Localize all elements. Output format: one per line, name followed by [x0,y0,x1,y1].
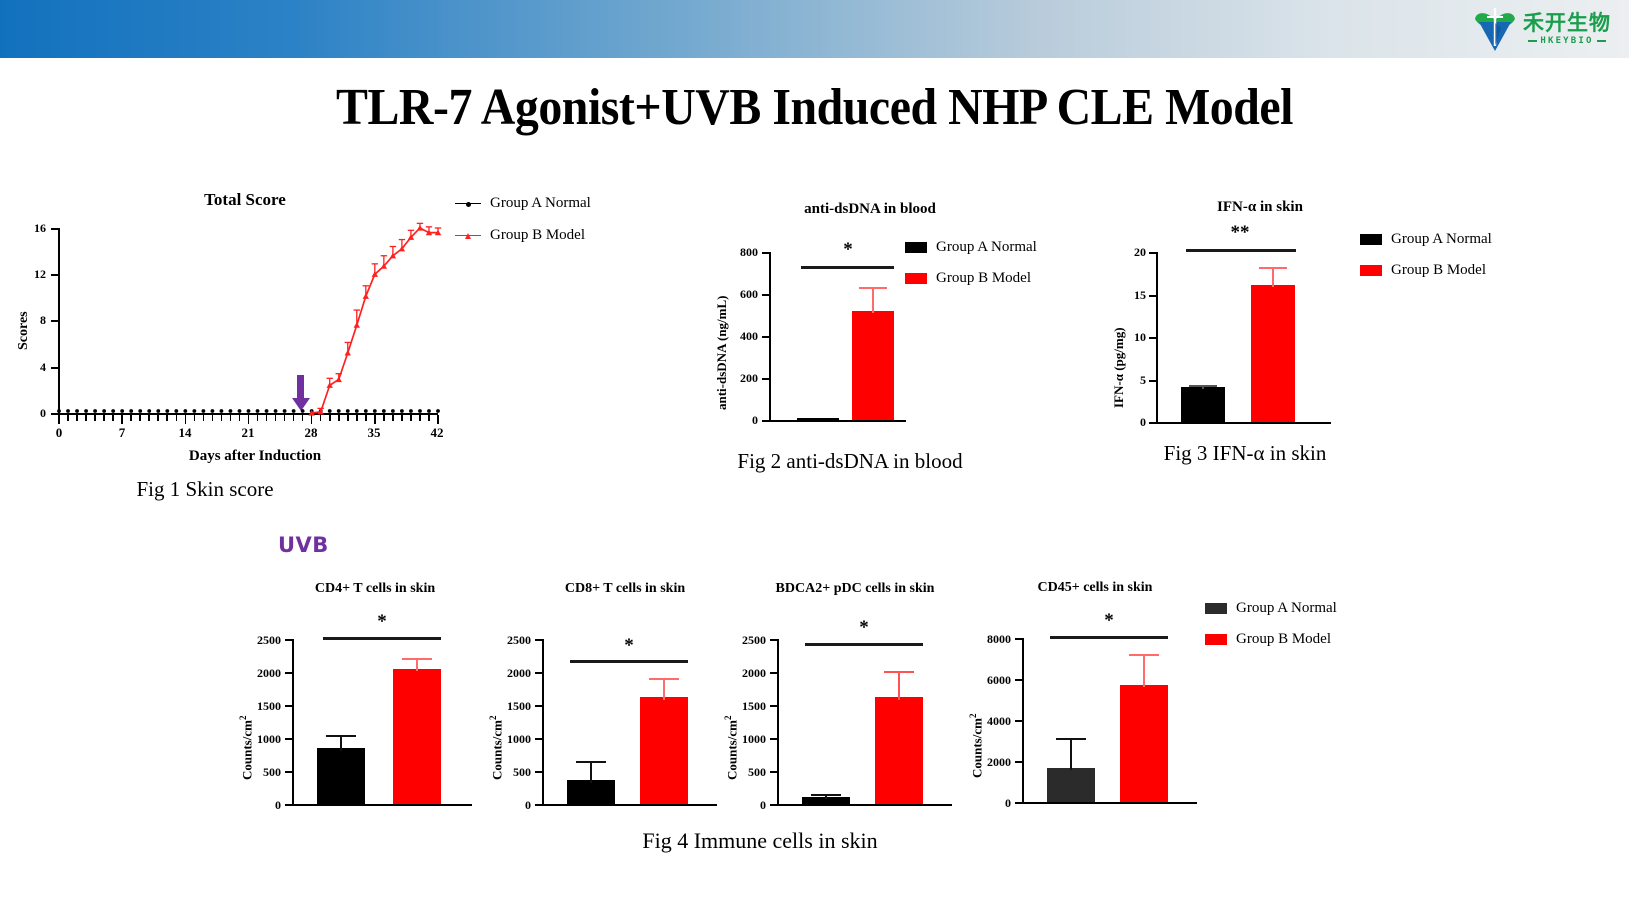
fig3-ytick-20 [1149,252,1156,254]
fig1-xtick-11 [157,415,159,421]
fig2-caption: Fig 2 anti-dsDNA in blood [680,449,1020,474]
fig1-xtick-35 [374,415,376,424]
fig2-title: anti-dsDNA in blood [720,201,1020,218]
fig4a-ytick-label-2000: 2000 [246,666,281,681]
fig4a-ytick-1500 [285,705,292,707]
fig4c-errorbar-a-cap [811,794,841,796]
fig4a-x-axis [292,804,472,806]
fig3-significance-star: ** [1210,222,1270,244]
fig4c-ytick-0 [770,804,777,806]
logo-brand-cn: 禾开生物 [1523,13,1611,34]
fig3-legend: Group A Normal Group B Model [1360,231,1492,279]
fig4c-x-axis [777,804,952,806]
fig2-legend-item-a: Group A Normal [905,239,1037,256]
logo-dash-right [1597,40,1606,42]
fig4b-x-axis [542,804,717,806]
figure-4d-cd45: CD45+ cells in skin 8000 6000 4000 2000 … [960,570,1220,815]
fig2-ytick-label-600: 600 [728,287,758,302]
logo-brand-en: HKEYBIO [1528,37,1605,46]
fig4c-ytick-500 [770,771,777,773]
fig1-xtick-15 [194,415,196,421]
fig1-xtick-17 [212,415,214,421]
fig4b-errorbar-a-cap [576,761,606,763]
fig4a-bar-group-b [393,669,441,804]
fig4b-errorbar-a-stem [590,761,592,783]
swatch-red-icon [905,273,927,284]
fig1-xtick-2 [76,415,78,421]
fig2-legend-label-b: Group B Model [936,270,1031,287]
fig1-xtick-13 [176,415,178,421]
fig4a-bar-group-a [317,748,365,804]
fig4-legend-item-b: Group B Model [1205,631,1337,648]
fig4c-title: BDCA2+ pDC cells in skin [735,581,975,597]
fig2-ytick-label-800: 800 [728,245,758,260]
fig4a-ytick-label-1500: 1500 [246,699,281,714]
fig4c-y-axis [777,639,779,806]
fig1-xtick-20 [239,415,241,421]
fig1-xtick-24 [275,415,277,421]
fig1-xtick-19 [230,415,232,421]
fig2-x-axis [769,420,906,422]
fig3-caption: Fig 3 IFN-α in skin [1100,441,1390,466]
fig1-xtick-label-21: 21 [237,425,259,441]
fig1-ytick-12 [51,274,58,276]
fig1-xtick-1 [67,415,69,421]
fig1-xtick-3 [85,415,87,421]
fig1-xtick-4 [94,415,96,421]
fig1-xtick-36 [383,415,385,421]
fig3-title: IFN-α in skin [1130,199,1390,216]
fig4a-title: CD4+ T cells in skin [265,581,485,597]
uvb-arrow-shaft-icon [297,375,304,400]
fig4-legend: Group A Normal Group B Model [1205,600,1337,648]
fig4b-ytick-label-2000: 2000 [496,666,531,681]
fig1-xtick-27 [302,415,304,421]
fig4d-x-axis [1022,802,1197,804]
fig3-bar-group-b [1251,285,1295,422]
fig3-ytick-label-0: 0 [1120,415,1146,430]
fig4c-significance-line [805,643,923,646]
fig2-ytick-label-0: 0 [728,413,758,428]
swatch-red-icon [1205,634,1227,645]
fig2-ytick-600 [762,294,769,296]
fig2-bar-group-b [852,311,894,420]
fig4d-ytick-6000 [1015,679,1022,681]
fig1-title: Total Score [150,190,340,210]
fig1-xtick-33 [356,415,358,421]
fig4b-ytick-1500 [535,705,542,707]
swatch-red-icon [1360,265,1382,276]
fig4d-ytick-label-0: 0 [976,796,1011,811]
fig1-xtick-25 [284,415,286,421]
fig2-legend-label-a: Group A Normal [936,239,1037,256]
swatch-black-icon [1360,234,1382,245]
fig1-y-axis [58,228,60,415]
fig4a-y-axis-label: Counts/cm2 [238,716,255,780]
fig4d-bar-group-b [1120,685,1168,802]
fig4a-errorbar-b-stem [416,658,418,671]
swatch-dark-gray-icon [1205,603,1227,614]
fig1-xtick-39 [410,415,412,421]
fig4b-ytick-label-1500: 1500 [496,699,531,714]
fig1-xtick-22 [257,415,259,421]
fig1-legend: Group A Normal Group B Model [455,195,591,244]
fig4c-ytick-2000 [770,672,777,674]
fig4b-ytick-2500 [535,639,542,641]
figure-2-anti-dsdna: anti-dsDNA in blood Group A Normal Group… [690,195,1090,485]
fig1-xtick-7 [121,415,123,424]
fig1-xtick-23 [266,415,268,421]
fig2-ytick-800 [762,252,769,254]
fig1-xtick-41 [428,415,430,421]
fig3-y-axis-label: IFN-α (pg/mg) [1111,327,1127,408]
fig1-xtick-26 [293,415,295,421]
fig3-legend-item-b: Group B Model [1360,262,1492,279]
company-logo: 禾开生物 HKEYBIO [1421,4,1611,54]
fig4d-significance-line [1050,636,1168,639]
leaf-diamond-logo-icon [1474,6,1516,52]
logo-dash-left [1528,40,1537,42]
fig1-legend-item-b: Group B Model [455,227,591,244]
fig3-ytick-label-15: 15 [1120,288,1146,303]
header-banner [0,0,1629,58]
fig2-ytick-label-400: 400 [728,329,758,344]
fig4b-title: CD8+ T cells in skin [515,581,735,597]
fig2-y-axis-label: anti-dsDNA (ng/mL) [714,296,730,411]
fig1-xtick-label-35: 35 [363,425,385,441]
fig1-ytick-label-0: 0 [18,406,46,421]
figure-3-ifn-alpha: IFN-α in skin Group A Normal Group B Mod… [1120,193,1540,483]
figure-4a-cd4: CD4+ T cells in skin 2500 2000 1500 1000… [240,575,490,815]
fig4c-ytick-label-2000: 2000 [731,666,766,681]
fig3-ytick-label-20: 20 [1120,245,1146,260]
fig4c-errorbar-b-stem [898,671,900,700]
fig3-ytick-0 [1149,422,1156,424]
fig4a-ytick-label-2500: 2500 [246,633,281,648]
fig1-y-axis-label: Scores [16,311,32,350]
fig3-y-axis [1156,252,1158,424]
fig4d-ytick-8000 [1015,638,1022,640]
fig1-ytick-4 [51,367,58,369]
fig4a-errorbar-a-cap [326,735,356,737]
fig4d-significance-star: * [1079,610,1139,632]
fig3-legend-label-b: Group B Model [1391,262,1486,279]
fig1-xtick-10 [148,415,150,421]
fig4d-y-axis [1022,638,1024,804]
fig1-xtick-label-42: 42 [426,425,448,441]
fig1-xtick-0 [58,415,60,424]
fig4a-y-axis [292,639,294,806]
fig1-xtick-40 [419,415,421,421]
fig1-ytick-label-16: 16 [18,221,46,236]
fig4a-ytick-2500 [285,639,292,641]
fig3-errorbar-b-stem [1272,267,1274,287]
fig4a-ytick-500 [285,771,292,773]
fig4d-errorbar-a-stem [1070,738,1072,770]
fig1-xtick-31 [338,415,340,421]
fig1-xtick-label-14: 14 [174,425,196,441]
fig2-significance-line [801,266,894,269]
fig1-xtick-label-0: 0 [48,425,70,441]
fig4a-ytick-0 [285,804,292,806]
fig4b-ytick-0 [535,804,542,806]
fig3-legend-label-a: Group A Normal [1391,231,1492,248]
fig4d-ytick-2000 [1015,761,1022,763]
fig2-y-axis [769,252,771,422]
fig4a-errorbar-a-stem [340,735,342,751]
fig4a-ytick-label-0: 0 [246,798,281,813]
fig4d-ytick-0 [1015,802,1022,804]
fig1-legend-label-b: Group B Model [490,227,585,244]
fig4b-ytick-label-0: 0 [496,798,531,813]
fig3-ytick-15 [1149,295,1156,297]
fig4a-errorbar-b-cap [402,658,432,660]
fig2-errorbar-b-stem [872,287,874,313]
fig1-xtick-12 [166,415,168,421]
fig3-legend-item-a: Group A Normal [1360,231,1492,248]
fig3-errorbar-a-cap [1189,385,1217,387]
fig1-xtick-8 [130,415,132,421]
fig2-ytick-0 [762,420,769,422]
fig4b-errorbar-b-stem [663,678,665,700]
fig4d-ytick-label-6000: 6000 [976,673,1011,688]
fig1-legend-item-a: Group A Normal [455,195,591,212]
fig4c-ytick-label-0: 0 [731,798,766,813]
fig4b-bar-group-a [567,780,615,804]
fig4-caption: Fig 4 Immune cells in skin [570,828,950,854]
fig4b-y-axis [542,639,544,806]
fig4a-significance-line [323,637,441,640]
fig4b-significance-line [570,660,688,663]
fig1-legend-label-a: Group A Normal [490,195,591,212]
fig4a-significance-star: * [352,611,412,633]
fig1-xtick-18 [221,415,223,421]
fig4c-bar-group-b [875,697,923,804]
fig4d-title: CD45+ cells in skin [985,580,1205,596]
fig4d-ytick-label-8000: 8000 [976,632,1011,647]
uvb-arrow-head-icon [292,398,310,411]
fig2-ytick-400 [762,336,769,338]
fig4b-significance-star: * [599,635,659,657]
fig2-legend: Group A Normal Group B Model [905,239,1037,287]
page-title: TLR-7 Agonist+UVB Induced NHP CLE Model [65,78,1564,137]
fig1-xtick-34 [365,415,367,421]
figure-4c-bdca2: BDCA2+ pDC cells in skin 2500 2000 1500 … [715,575,975,815]
fig2-significance-star: * [818,239,878,261]
fig2-legend-item-b: Group B Model [905,270,1037,287]
fig4a-ytick-2000 [285,672,292,674]
fig4c-ytick-1000 [770,738,777,740]
figure-4b-cd8: CD8+ T cells in skin 2500 2000 1500 1000… [490,575,740,815]
fig4b-ytick-2000 [535,672,542,674]
fig4d-bar-group-a [1047,768,1095,802]
fig1-xtick-42 [437,415,439,424]
fig4d-ytick-4000 [1015,720,1022,722]
fig4b-ytick-1000 [535,738,542,740]
fig4c-ytick-1500 [770,705,777,707]
fig4c-errorbar-b-cap [884,671,914,673]
fig4b-y-axis-label: Counts/cm2 [488,716,505,780]
fig4d-errorbar-b-stem [1143,654,1145,687]
logo-brand-en-text: HKEYBIO [1540,37,1593,46]
fig2-ytick-200 [762,378,769,380]
fig1-ytick-8 [51,320,58,322]
fig4d-errorbar-a-cap [1056,738,1086,740]
fig2-ytick-label-200: 200 [728,371,758,386]
line-marker-red-icon [455,235,481,236]
fig4-legend-label-a: Group A Normal [1236,600,1337,617]
fig4c-ytick-label-2500: 2500 [731,633,766,648]
fig1-xtick-29 [320,415,322,421]
fig4-legend-label-b: Group B Model [1236,631,1331,648]
fig1-ytick-label-12: 12 [18,267,46,282]
fig1-xtick-5 [103,415,105,421]
fig3-significance-line [1186,249,1296,252]
fig1-xtick-16 [203,415,205,421]
fig4c-ytick-2500 [770,639,777,641]
fig1-xtick-label-7: 7 [111,425,133,441]
fig2-errorbar-b-cap [859,287,887,289]
fig4d-y-axis-label: Counts/cm2 [968,714,985,778]
fig1-xtick-30 [329,415,331,421]
fig4d-errorbar-b-cap [1129,654,1159,656]
fig4c-ytick-label-1500: 1500 [731,699,766,714]
fig1-xtick-28 [311,415,313,424]
fig3-x-axis [1156,422,1331,424]
fig4c-y-axis-label: Counts/cm2 [723,716,740,780]
swatch-black-icon [905,242,927,253]
fig3-ytick-5 [1149,380,1156,382]
figure-1-total-score: Total Score Group A Normal Group B Model… [0,185,640,505]
fig1-ytick-label-4: 4 [18,360,46,375]
fig1-xtick-37 [392,415,394,421]
fig1-ytick-16 [51,228,58,230]
fig3-bar-group-a [1181,387,1225,422]
fig4a-ytick-1000 [285,738,292,740]
uvb-annotation-label: UVB [278,533,329,557]
fig4b-ytick-500 [535,771,542,773]
fig1-ytick-0 [51,413,58,415]
fig3-ytick-10 [1149,337,1156,339]
fig4b-errorbar-b-cap [649,678,679,680]
fig1-caption: Fig 1 Skin score [70,477,340,502]
fig1-xtick-38 [401,415,403,421]
fig4c-significance-star: * [834,617,894,639]
fig1-xtick-label-28: 28 [300,425,322,441]
fig4b-ytick-label-2500: 2500 [496,633,531,648]
line-marker-black-icon [455,203,481,204]
fig1-xtick-9 [139,415,141,421]
fig1-xtick-32 [347,415,349,421]
fig1-xtick-14 [185,415,187,424]
fig1-x-axis-label: Days after Induction [130,448,380,465]
fig1-xtick-6 [112,415,114,421]
fig4-legend-item-a: Group A Normal [1205,600,1337,617]
fig2-bar-group-a [797,418,839,420]
fig1-xtick-21 [248,415,250,424]
fig3-errorbar-b-cap [1259,267,1287,269]
fig4b-bar-group-b [640,697,688,804]
